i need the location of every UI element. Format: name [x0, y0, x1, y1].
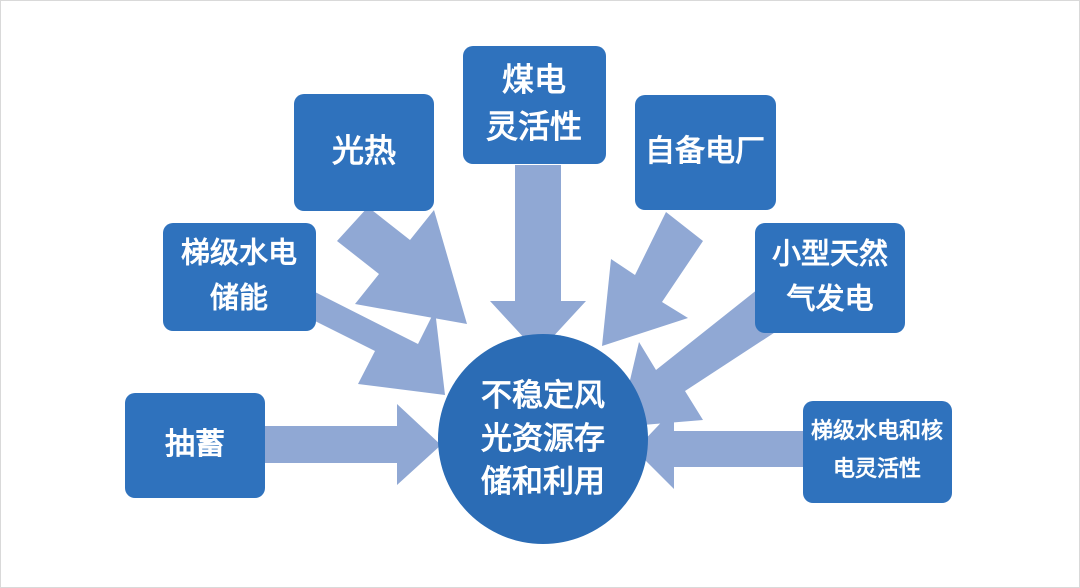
node-tiji-shuidian-chuneng-label-line-1: 梯级水电: [181, 237, 297, 270]
node-chouxu-label-line-1: 抽蓄: [165, 428, 225, 461]
node-meidian-linghuoxing-label-line-2: 灵活性: [486, 108, 582, 144]
hub-center-label-line-3: 储和利用: [481, 464, 605, 499]
hub-center-label-line-2: 光资源存: [481, 421, 605, 456]
node-tiji-shuidian-chuneng-label-line-2: 储能: [210, 282, 268, 315]
node-guangre[interactable]: 光热: [294, 94, 434, 211]
arrow-meidian-to-hub: [490, 165, 586, 353]
node-xiaoxing-tianranqi-fadian-label-line-2: 气发电: [785, 283, 873, 316]
node-chouxu[interactable]: 抽蓄: [125, 393, 265, 498]
node-tiji-shuidian-hedian-label-line-2: 电灵活性: [833, 456, 921, 481]
hub-center-label-line-1: 不稳定风: [481, 378, 605, 413]
arrow-chouxu-to-hub: [265, 404, 441, 485]
node-guangre-label-line-1: 光热: [332, 132, 396, 168]
node-zibei-dianchang[interactable]: 自备电厂: [635, 95, 776, 210]
arrow-zibei-to-hub: [602, 212, 703, 346]
arrow-guangre-to-hub: [337, 207, 467, 324]
node-zibei-dianchang-label-line-1: 自备电厂: [645, 134, 765, 168]
node-tiji-shuidian-hedian[interactable]: 梯级水电和核 电灵活性: [803, 401, 952, 503]
hub-center[interactable]: 不稳定风 光资源存 储和利用: [438, 334, 648, 544]
node-tiji-shuidian-hedian-label-line-1: 梯级水电和核: [811, 418, 943, 443]
node-meidian-linghuoxing-label-line-1: 煤电: [502, 61, 566, 97]
diagram-canvas: 光热 煤电 灵活性 自备电厂 梯级水电 储能 小型天然: [0, 0, 1080, 588]
node-meidian-linghuoxing[interactable]: 煤电 灵活性: [463, 46, 606, 164]
node-tiji-shuidian-chuneng[interactable]: 梯级水电 储能: [163, 223, 316, 331]
node-xiaoxing-tianranqi-fadian[interactable]: 小型天然 气发电: [755, 223, 905, 333]
node-xiaoxing-tianranqi-fadian-label-line-1: 小型天然: [772, 237, 888, 271]
hub-and-spoke-diagram: 光热 煤电 灵活性 自备电厂 梯级水电 储能 小型天然: [1, 1, 1080, 588]
